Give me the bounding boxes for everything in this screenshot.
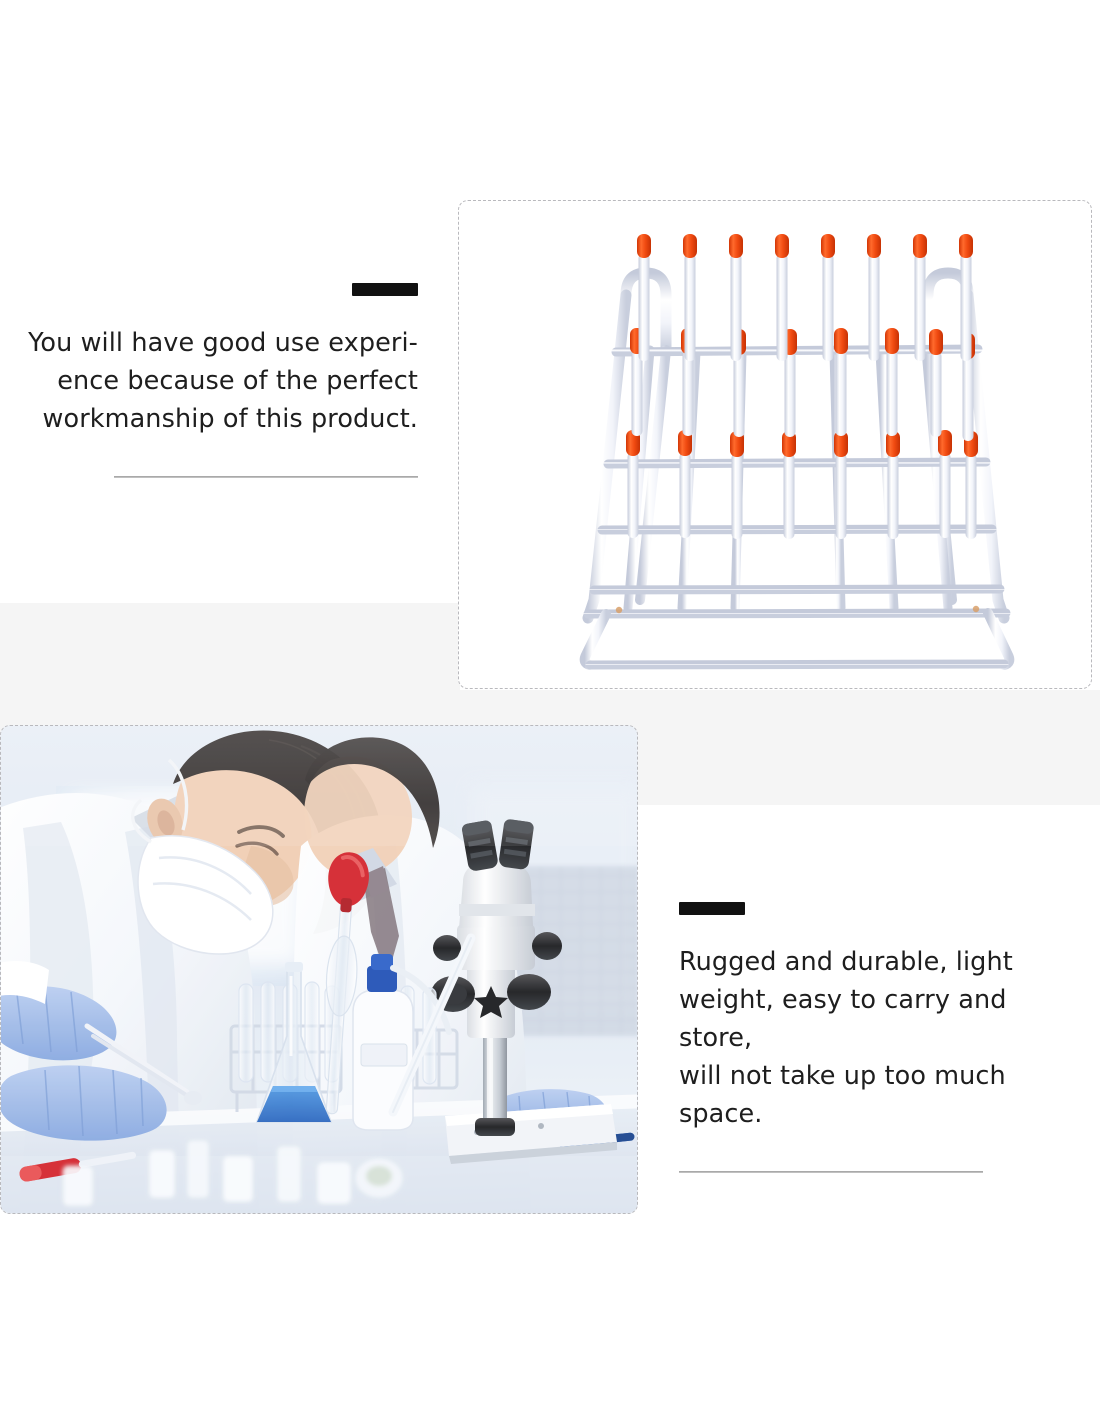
background-band-left [0, 603, 460, 690]
lab-photo-frame [0, 725, 638, 1214]
feature-text-1: You will have good use experi- ence beca… [0, 324, 418, 438]
feature-block-rugged-durable: Rugged and durable, light weight, easy t… [679, 902, 1079, 1173]
accent-bar-1 [352, 283, 418, 296]
drying-rack-illustration [458, 200, 1092, 689]
accent-bar-2 [679, 902, 745, 915]
divider-rule-2 [679, 1171, 983, 1173]
divider-rule-1 [114, 476, 418, 478]
feature-block-workmanship: You will have good use experi- ence beca… [0, 283, 418, 478]
feature-text-2: Rugged and durable, light weight, easy t… [679, 943, 1079, 1133]
